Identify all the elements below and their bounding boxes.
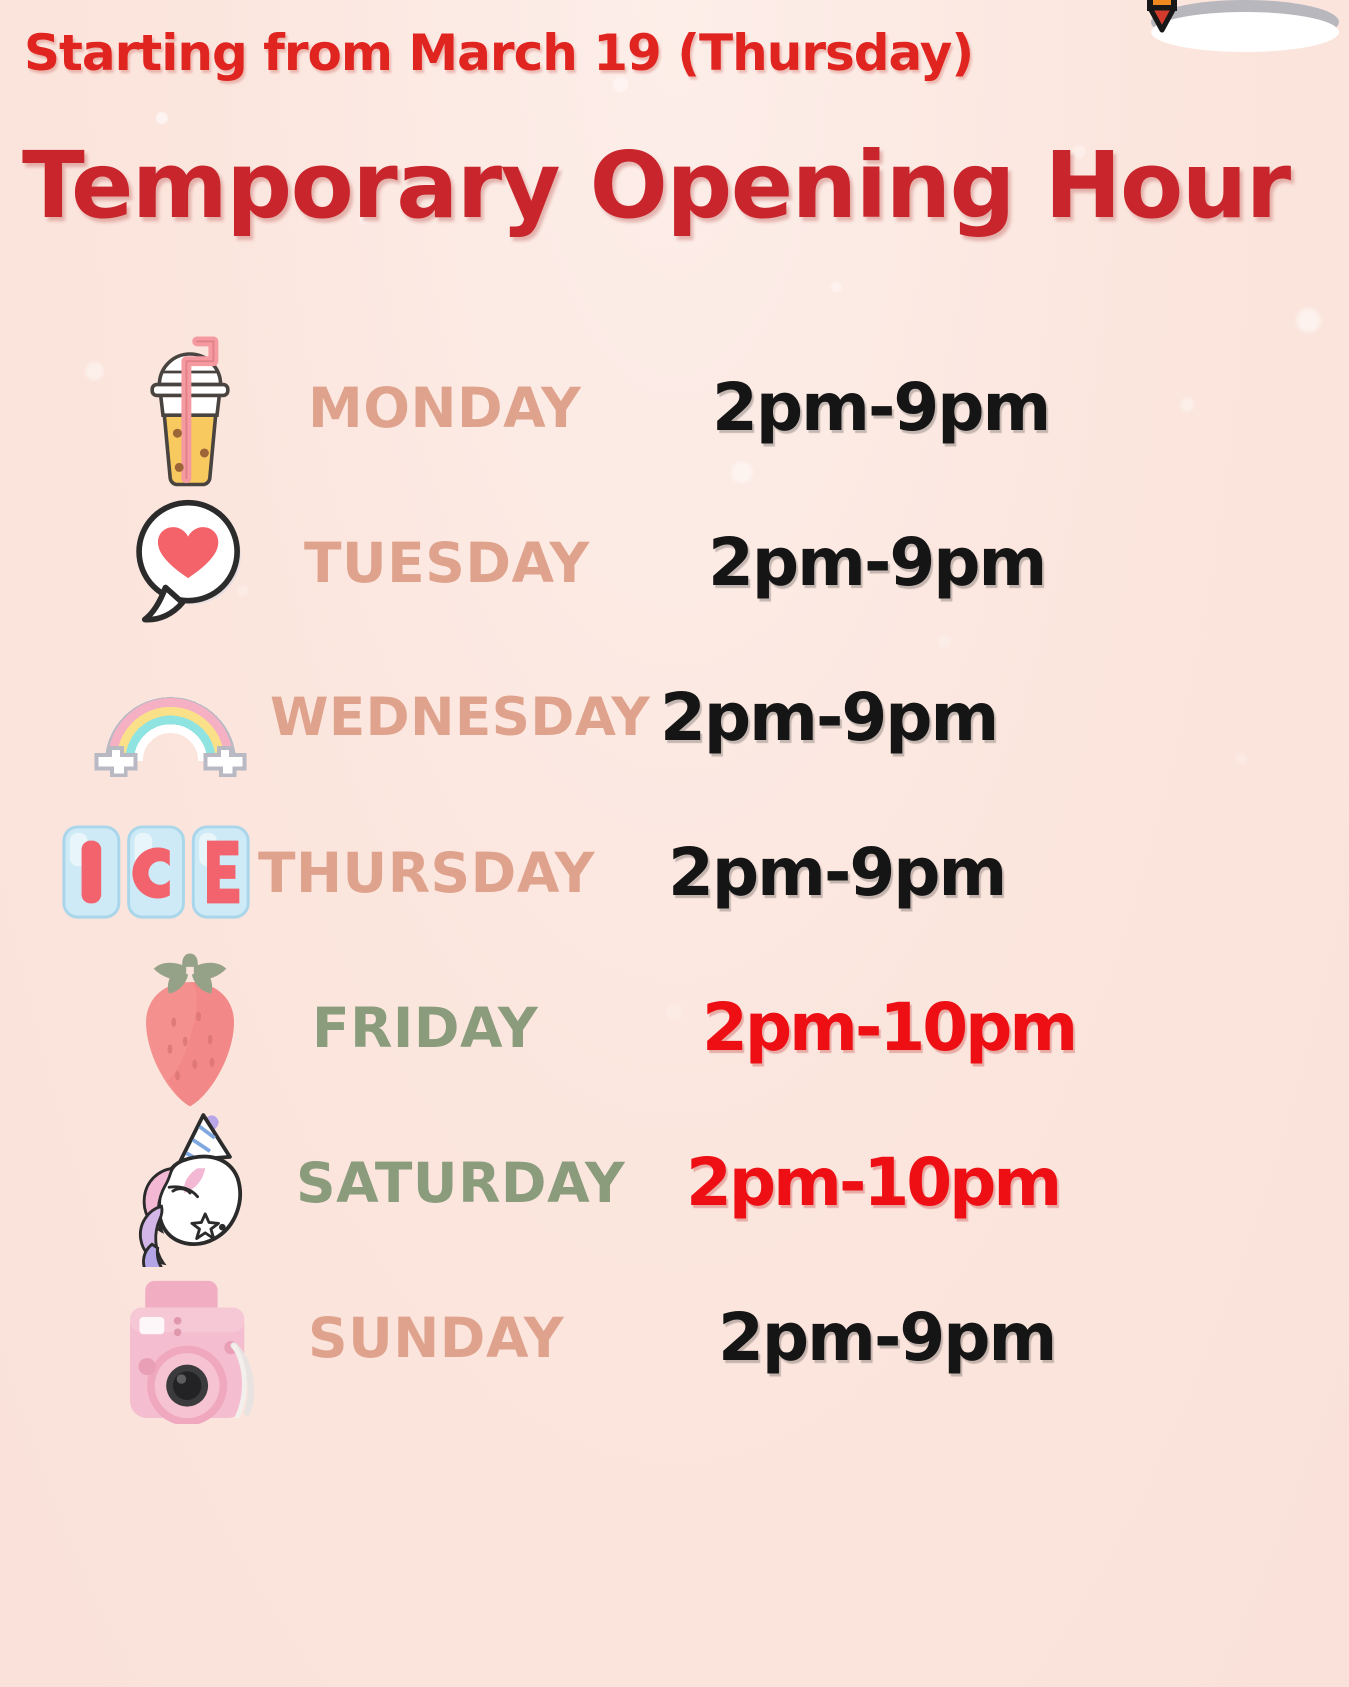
bubble-tea-cup-icon — [90, 333, 290, 483]
time-value-tuesday: 2pm-9pm — [694, 524, 1045, 601]
ice-cubes-letters-icon — [58, 798, 258, 948]
page-title: Temporary Opening Hour — [22, 132, 1290, 239]
opening-hours-list: MONDAY 2pm-9pm TUESDAY 2pm-9pm — [0, 330, 1349, 1415]
schedule-row-saturday: SATURDAY 2pm-10pm — [0, 1105, 1349, 1260]
day-label-sunday: SUNDAY — [290, 1306, 698, 1370]
day-label-friday: FRIDAY — [290, 996, 702, 1060]
strawberry-icon — [90, 953, 290, 1103]
day-label-thursday: THURSDAY — [258, 841, 648, 905]
time-value-saturday: 2pm-10pm — [686, 1144, 1059, 1221]
schedule-row-thursday: THURSDAY 2pm-9pm — [0, 795, 1349, 950]
schedule-row-monday: MONDAY 2pm-9pm — [0, 330, 1349, 485]
time-value-friday: 2pm-10pm — [702, 989, 1075, 1066]
schedule-row-sunday: SUNDAY 2pm-9pm — [0, 1260, 1349, 1415]
schedule-row-tuesday: TUESDAY 2pm-9pm — [0, 485, 1349, 640]
pixel-rainbow-icon — [70, 643, 270, 793]
instant-camera-icon — [90, 1263, 290, 1413]
bear-biscuit-plate-pencil-sticker — [1113, 0, 1343, 80]
time-value-wednesday: 2pm-9pm — [660, 679, 997, 756]
day-label-tuesday: TUESDAY — [290, 531, 694, 595]
day-label-wednesday: WEDNESDAY — [270, 687, 660, 748]
time-value-monday: 2pm-9pm — [698, 369, 1049, 446]
day-label-saturday: SATURDAY — [290, 1151, 686, 1215]
schedule-row-wednesday: WEDNESDAY 2pm-9pm — [0, 640, 1349, 795]
time-value-thursday: 2pm-9pm — [648, 834, 1005, 911]
unicorn-party-hat-icon — [90, 1108, 290, 1258]
day-label-monday: MONDAY — [290, 376, 698, 440]
heart-speech-bubble-icon — [90, 488, 290, 638]
starting-date-subtitle: Starting from March 19 (Thursday) — [24, 24, 973, 82]
time-value-sunday: 2pm-9pm — [698, 1299, 1055, 1376]
schedule-row-friday: FRIDAY 2pm-10pm — [0, 950, 1349, 1105]
